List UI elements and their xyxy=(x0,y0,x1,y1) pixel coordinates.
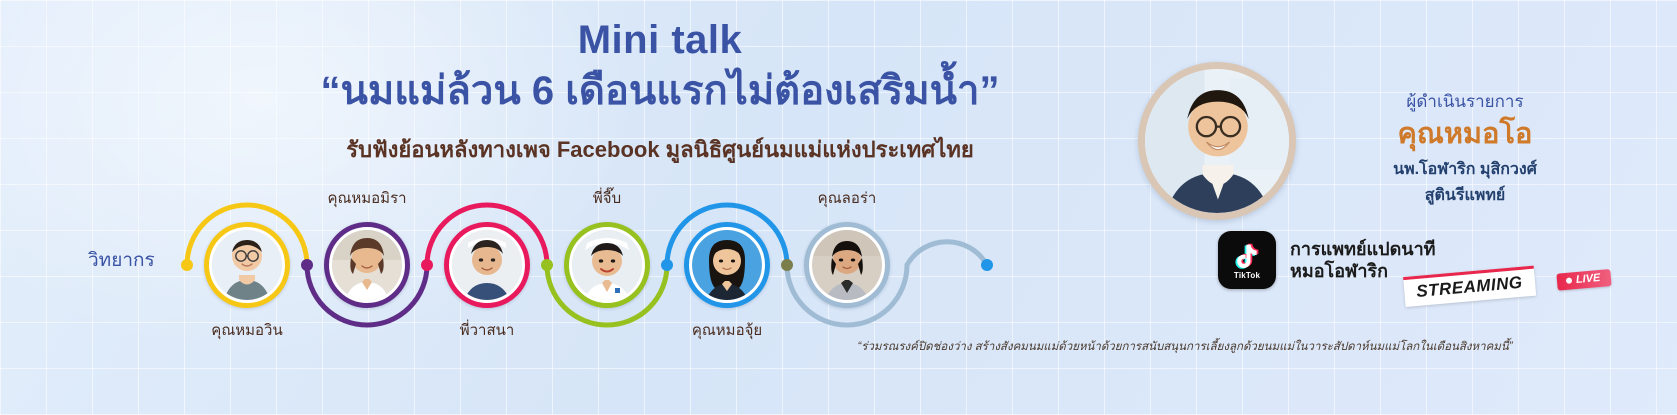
host-full-name: นพ.โอฬาริก มุสิกวงศ์ xyxy=(1300,157,1630,182)
connector-dot-1 xyxy=(301,259,313,271)
avatar-man-glasses-icon xyxy=(212,230,282,300)
avatar-host-man-glasses-icon xyxy=(1145,69,1289,213)
host-info: ผู้ดำเนินรายการ คุณหมอโอ นพ.โอฬาริก มุสิ… xyxy=(1300,88,1630,208)
headline-quote: “นมแม่ล้วน 6 เดือนแรกไม่ต้องเสริมน้ำ” xyxy=(180,66,1140,116)
live-label: LIVE xyxy=(1575,272,1600,286)
speaker-name-4: คุณหมอจุ้ย xyxy=(692,318,762,342)
speaker-name-5: คุณลอร่า xyxy=(818,186,877,210)
speaker-card-3[interactable]: พี่จี๊บ xyxy=(564,222,650,308)
connector-dot-6 xyxy=(981,259,993,271)
tiktok-icon[interactable]: TikTok xyxy=(1218,231,1276,289)
host-avatar xyxy=(1138,62,1296,220)
speaker-name-1: คุณหมอมิรา xyxy=(327,186,406,210)
connector-dot-2 xyxy=(421,259,433,271)
host-name: คุณหมอโอ xyxy=(1300,118,1630,151)
speaker-card-5[interactable]: คุณลอร่า xyxy=(804,222,890,308)
avatar-woman-nurse-cap-icon xyxy=(572,230,642,300)
footer-disclaimer: “ร่วมรณรงค์ปิดช่องว่าง สร้างสังคมนมแม่ด้… xyxy=(840,340,1530,355)
speaker-photo-2 xyxy=(452,230,522,300)
speaker-photo-0 xyxy=(212,230,282,300)
speaker-card-1[interactable]: คุณหมอมิรา xyxy=(324,222,410,308)
avatar-woman-long-hair-icon xyxy=(692,230,762,300)
headline-block: Mini talk “นมแม่ล้วน 6 เดือนแรกไม่ต้องเส… xyxy=(180,18,1140,167)
headline-subtitle: รับฟังย้อนหลังทางเพจ Facebook มูลนิธิศูน… xyxy=(180,132,1140,167)
headline-title: Mini talk xyxy=(180,18,1140,62)
speaker-card-2[interactable]: พี่วาสนา xyxy=(444,222,530,308)
host-role: ผู้ดำเนินรายการ xyxy=(1300,88,1630,115)
avatar-woman-doctor-icon xyxy=(332,230,402,300)
avatar-woman-nurse-icon xyxy=(452,230,522,300)
speakers-label: วิทยากร xyxy=(88,245,155,275)
speaker-photo-4 xyxy=(692,230,762,300)
tiktok-note-glyph xyxy=(1233,242,1261,270)
connector-dot-4 xyxy=(661,259,673,271)
live-dot-icon xyxy=(1566,277,1573,284)
channel-name-line1: การแพทย์แปดนาที xyxy=(1290,238,1436,261)
connector-dot-0 xyxy=(181,259,193,271)
speaker-card-0[interactable]: คุณหมอวิน xyxy=(204,222,290,308)
host-specialty: สูตินรีแพทย์ xyxy=(1300,183,1630,208)
connector-dot-3 xyxy=(541,259,553,271)
connector-dot-5 xyxy=(781,259,793,271)
speaker-name-3: พี่จี๊บ xyxy=(593,186,621,210)
speaker-card-4[interactable]: คุณหมอจุ้ย xyxy=(684,222,770,308)
promo-banner: Mini talk “นมแม่ล้วน 6 เดือนแรกไม่ต้องเส… xyxy=(0,0,1677,415)
speakers-row: คุณหมอวิน คุณหมอมิรา xyxy=(175,185,1015,350)
speaker-photo-3 xyxy=(572,230,642,300)
speaker-name-0: คุณหมอวิน xyxy=(211,318,282,342)
speaker-name-2: พี่วาสนา xyxy=(460,318,515,342)
speaker-photo-5 xyxy=(812,230,882,300)
tiktok-label: TikTok xyxy=(1234,271,1260,280)
live-badge: LIVE xyxy=(1556,269,1612,291)
avatar-woman-suit-icon xyxy=(812,230,882,300)
speaker-photo-1 xyxy=(332,230,402,300)
